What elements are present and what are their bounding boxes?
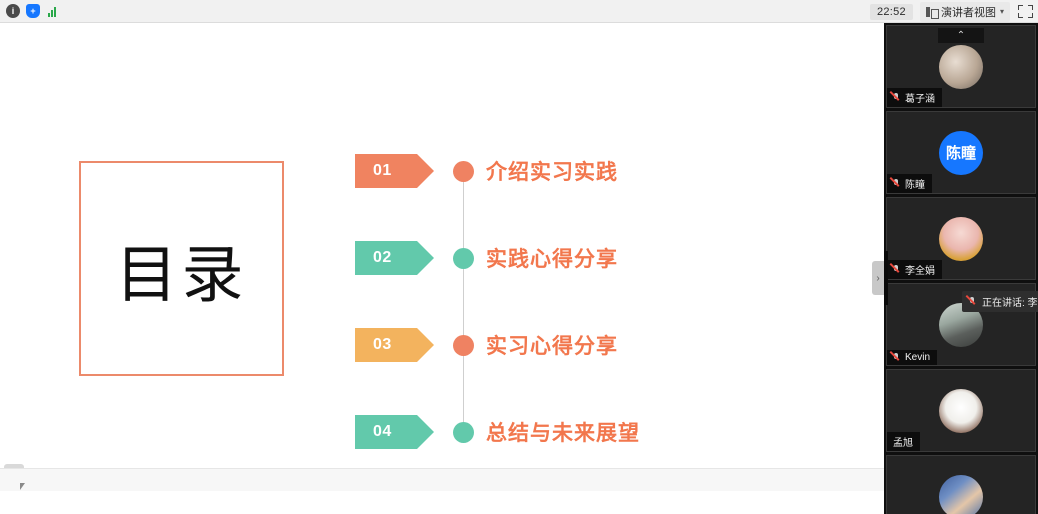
shield-icon[interactable]: + bbox=[26, 4, 40, 18]
rail-edge bbox=[884, 251, 888, 305]
participant-name-badge: 陈瞳 bbox=[887, 174, 932, 193]
agenda-number: 02 bbox=[373, 249, 392, 267]
toc-title-box: 目录 bbox=[79, 161, 284, 376]
agenda-number: 03 bbox=[373, 336, 392, 354]
list-item[interactable]: 04 总结与未来展望 bbox=[355, 415, 417, 449]
agenda-number-tag: 01 bbox=[355, 154, 417, 188]
participant-name-badge: 孟旭 bbox=[887, 432, 920, 451]
status-icon-group: i + bbox=[0, 4, 60, 18]
participant-tile[interactable]: ⌃ 葛子涵 bbox=[886, 25, 1036, 108]
clock: 22:52 bbox=[870, 4, 913, 20]
list-item[interactable]: 01 介绍实习实践 bbox=[355, 154, 417, 188]
view-mode-label: 演讲者视图 bbox=[941, 4, 996, 20]
agenda-number-tag: 02 bbox=[355, 241, 417, 275]
chevron-down-icon: ▾ bbox=[1000, 7, 1004, 16]
agenda-item-label: 实践心得分享 bbox=[486, 243, 618, 273]
participant-tile[interactable]: 陈瞳 陈瞳 bbox=[886, 111, 1036, 194]
agenda-number-tag: 03 bbox=[355, 328, 417, 362]
participant-name-badge: Kevin bbox=[887, 350, 937, 365]
participant-name: 葛子涵 bbox=[905, 90, 935, 105]
view-mode-selector[interactable]: 演讲者视图 ▾ bbox=[920, 2, 1010, 22]
agenda-item-label: 总结与未来展望 bbox=[486, 417, 640, 447]
stage-bottom-strip bbox=[0, 468, 884, 491]
agenda-item-label: 介绍实习实践 bbox=[486, 156, 618, 186]
top-toolbar: i + 22:52 演讲者视图 ▾ bbox=[0, 0, 1038, 23]
avatar bbox=[939, 389, 983, 433]
participant-name: Kevin bbox=[905, 352, 930, 363]
speaking-indicator-label: 正在讲话: 李 bbox=[982, 294, 1038, 309]
timeline-dot bbox=[453, 335, 474, 356]
participant-name: 陈瞳 bbox=[905, 176, 925, 191]
slide-stage: 目录 01 介绍实习实践 02 实践心得分享 03 bbox=[0, 23, 884, 491]
participant-name-badge: 葛子涵 bbox=[887, 88, 942, 107]
presenter-view-icon bbox=[926, 7, 937, 17]
timeline-dot bbox=[453, 422, 474, 443]
mic-muted-icon bbox=[892, 92, 901, 103]
avatar bbox=[939, 45, 983, 89]
speaking-indicator: 正在讲话: 李 bbox=[962, 291, 1038, 312]
cursor-pointer-icon bbox=[20, 483, 28, 490]
top-toolbar-right: 22:52 演讲者视图 ▾ bbox=[870, 0, 1034, 23]
participant-tile[interactable]: ⌄ bbox=[886, 455, 1036, 514]
agenda-number-tag: 04 bbox=[355, 415, 417, 449]
participant-name: 李全娟 bbox=[905, 262, 935, 277]
fullscreen-icon[interactable] bbox=[1017, 4, 1034, 19]
mic-muted-icon bbox=[968, 296, 977, 307]
info-icon[interactable]: i bbox=[6, 4, 20, 18]
participant-name: 孟旭 bbox=[893, 434, 913, 449]
mic-muted-icon bbox=[892, 352, 901, 363]
avatar bbox=[939, 475, 983, 514]
agenda-number: 01 bbox=[373, 162, 392, 180]
mic-muted-icon bbox=[892, 178, 901, 189]
scroll-up-button[interactable]: ⌃ bbox=[938, 28, 984, 43]
participant-tile[interactable]: 孟旭 bbox=[886, 369, 1036, 452]
list-item[interactable]: 03 实习心得分享 bbox=[355, 328, 417, 362]
avatar: 陈瞳 bbox=[939, 131, 983, 175]
timeline-spine bbox=[463, 165, 464, 442]
agenda-number: 04 bbox=[373, 423, 392, 441]
signal-icon[interactable] bbox=[46, 4, 60, 18]
mic-muted-icon bbox=[892, 264, 901, 275]
presentation-window: i + 22:52 演讲者视图 ▾ 录制中 bbox=[0, 0, 1038, 514]
avatar bbox=[939, 217, 983, 261]
timeline-dot bbox=[453, 248, 474, 269]
page-title: 目录 bbox=[115, 224, 247, 314]
agenda-item-label: 实习心得分享 bbox=[486, 330, 618, 360]
participant-tile[interactable]: 李全娟 bbox=[886, 197, 1036, 280]
participant-name-badge: 李全娟 bbox=[887, 260, 942, 279]
timeline-dot bbox=[453, 161, 474, 182]
collapse-rail-button[interactable]: › bbox=[872, 261, 884, 295]
list-item[interactable]: 02 实践心得分享 bbox=[355, 241, 417, 275]
participant-rail: › ⌃ 葛子涵 陈瞳 陈瞳 李全娟 bbox=[884, 23, 1038, 514]
